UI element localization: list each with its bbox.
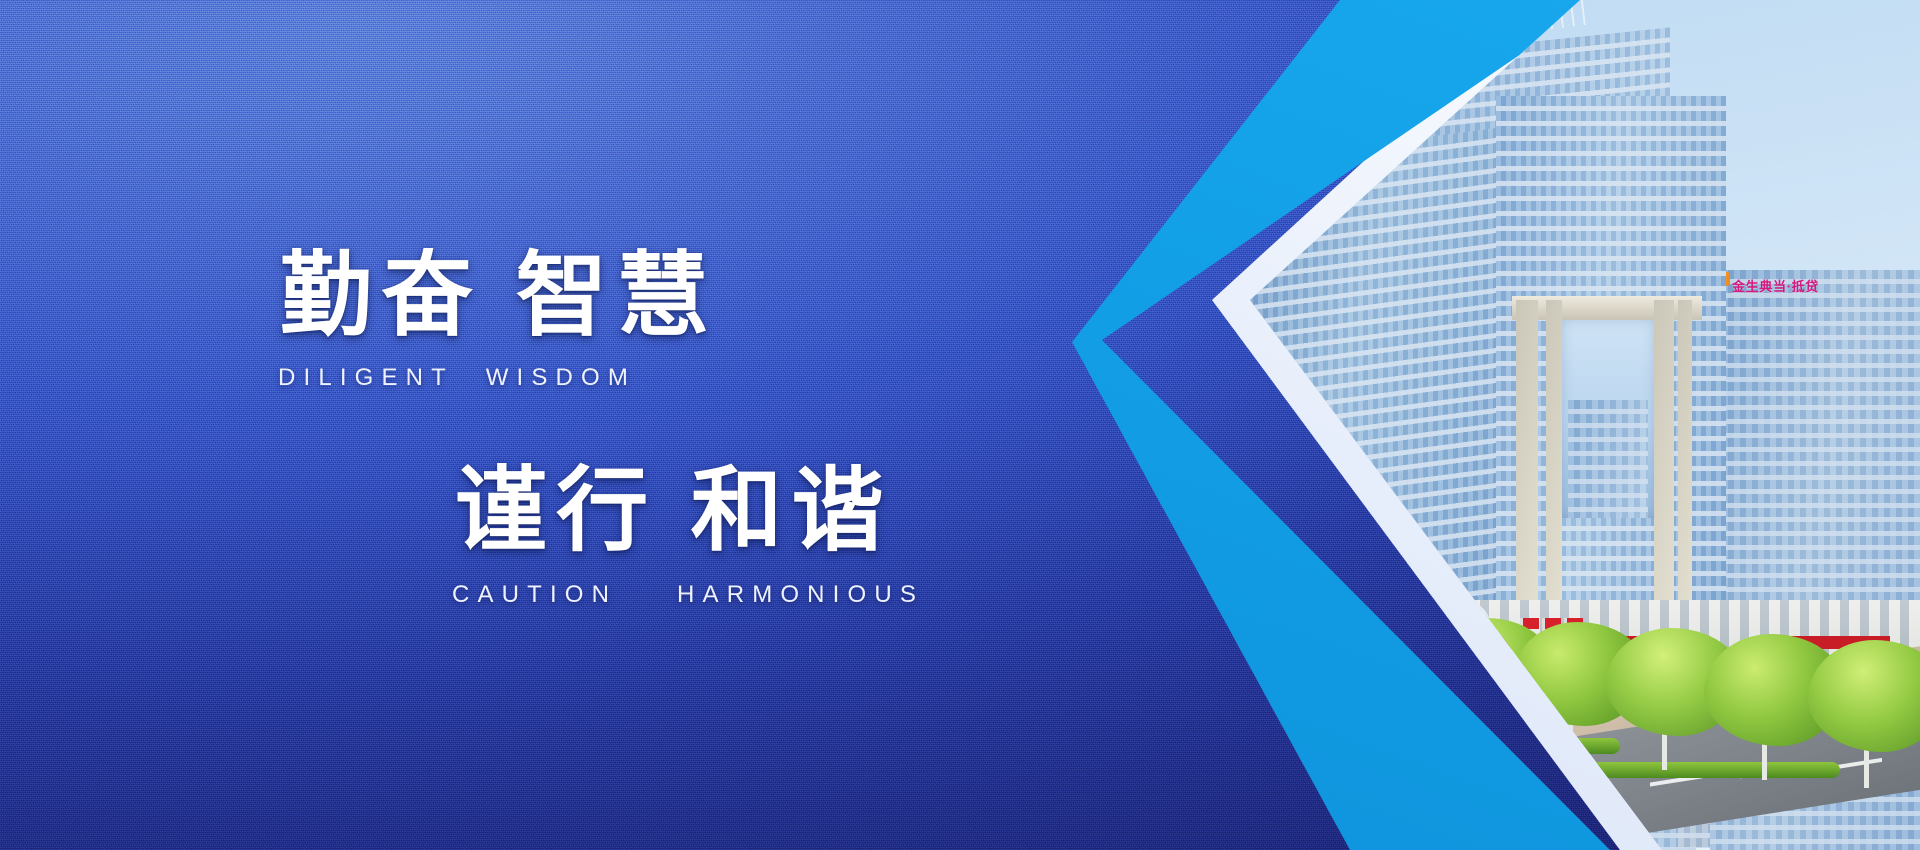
slogan-line-2-chinese-a: 谨行 (455, 460, 657, 562)
slogan-line-2-english-a: CAUTION (452, 583, 617, 607)
slogan-line-1-chinese-a: 勤奋 (280, 245, 482, 347)
secondary-sign-text: 金生典当·抵贷 (1732, 276, 1819, 295)
glass-facade (1568, 400, 1648, 518)
slogan-line-2-english-b: HARMONIOUS (677, 583, 924, 607)
slogan-line-1-english: DILIGENT WISDOM (278, 366, 698, 390)
slogan-line-2-chinese-b: 和谐 (691, 460, 893, 562)
parked-car (1494, 706, 1516, 717)
distant-tower-through-gate (1568, 400, 1648, 518)
slogan-line-1-chinese-b: 智慧 (516, 245, 718, 347)
slogan-line-1-chinese: 勤奋智慧 (280, 250, 718, 342)
hero-banner: 勤奋智慧 DILIGENT WISDOM 谨行和谐 CAUTION HARMON… (0, 0, 1920, 850)
slogan-line-2-english: CAUTION HARMONIOUS (452, 583, 942, 607)
banner-graphic: 金生典当·抵贷 江苏国泰 (920, 0, 1920, 850)
parked-car (1246, 706, 1268, 717)
slogan-line-2-chinese: 谨行和谐 (455, 465, 893, 557)
slogan-line-1-english-a: DILIGENT (278, 366, 454, 390)
slogan-line-1-english-b: WISDOM (486, 366, 636, 390)
